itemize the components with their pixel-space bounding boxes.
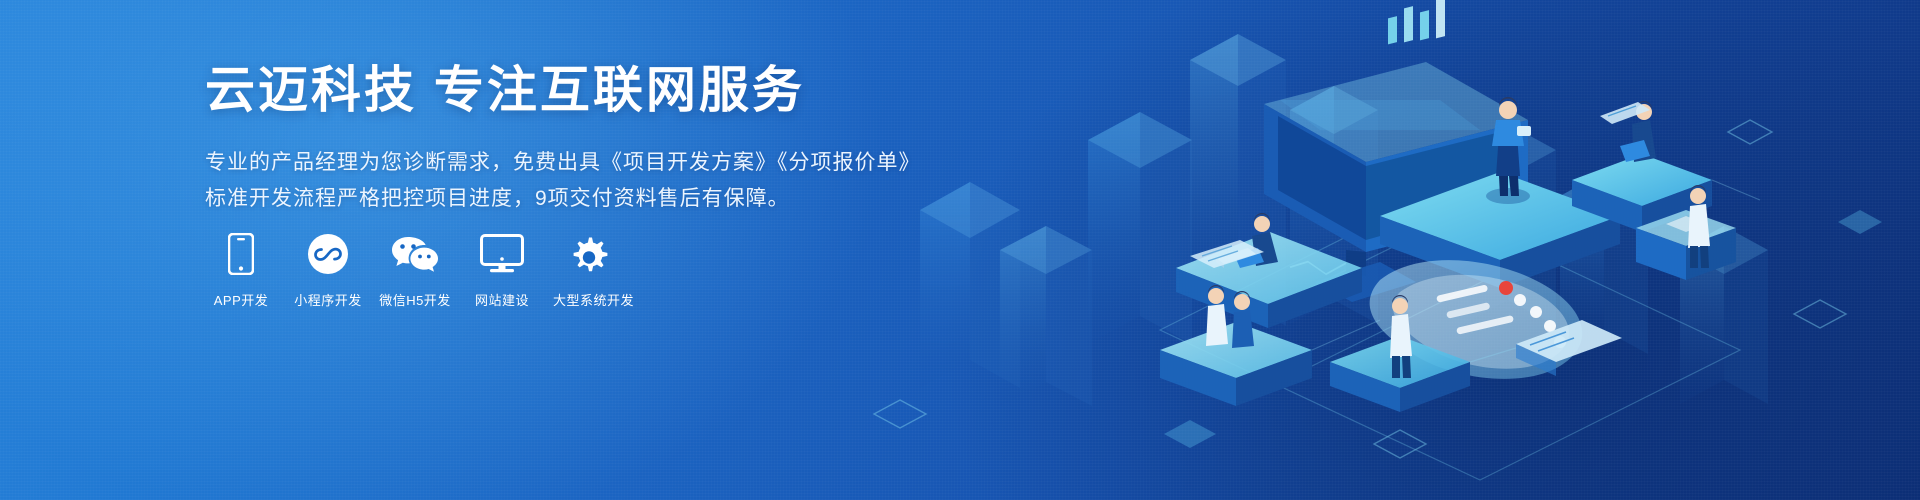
gear-icon — [553, 232, 625, 276]
person-seated-left — [1216, 213, 1278, 268]
center-platform — [1380, 172, 1620, 288]
person-pair-bottom-left — [1206, 285, 1254, 348]
data-ribbon — [1370, 260, 1583, 379]
service-item-large-system[interactable]: 大型系统开发 — [553, 232, 625, 309]
service-label: 网站建设 — [466, 290, 538, 309]
screen-line-chart — [1290, 249, 1346, 281]
subtitle-line-2: 标准开发流程严格把控项目进度，9项交付资料售后有保障。 — [205, 181, 921, 218]
bottom-right-platform — [1330, 336, 1470, 412]
dashboard-screen — [1264, 0, 1528, 302]
bottom-left-platform — [1160, 322, 1312, 406]
person-standing-right-mid — [1688, 185, 1710, 268]
skyline-buildings — [920, 34, 1768, 406]
service-label: APP开发 — [205, 290, 277, 309]
ribbon-dots — [1514, 294, 1566, 348]
service-item-mini-program[interactable]: 小程序开发 — [292, 232, 364, 309]
service-label: 小程序开发 — [292, 290, 364, 309]
decorative-diamonds — [874, 120, 1846, 458]
subtitle-block: 专业的产品经理为您诊断需求，免费出具《项目开发方案》《分项报价单》 标准开发流程… — [205, 145, 921, 219]
service-list: APP开发 小程序开发 微信 — [205, 232, 625, 309]
decorative-diamonds-filled — [1164, 210, 1882, 448]
service-item-wechat-h5[interactable]: 微信H5开发 — [379, 232, 451, 309]
subtitle-line-1: 专业的产品经理为您诊断需求，免费出具《项目开发方案》《分项报价单》 — [205, 145, 921, 182]
left-document-sheet — [1190, 240, 1264, 268]
screen-bar-chart — [1388, 0, 1445, 44]
floor-grid — [1160, 200, 1740, 480]
floating-ui-card — [1516, 320, 1622, 376]
ribbon-pill-rows — [1436, 284, 1514, 335]
banner-copy: 云迈科技 专注互联网服务 专业的产品经理为您诊断需求，免费出具《项目开发方案》《… — [205, 62, 921, 218]
service-item-app[interactable]: APP开发 — [205, 232, 277, 309]
person-standing-bottom-right — [1390, 295, 1412, 378]
ribbon-accent-dot — [1499, 281, 1513, 295]
tablet-floating — [1600, 102, 1650, 124]
wechat-icon — [379, 232, 451, 276]
hero-banner: 云迈科技 专注互联网服务 专业的产品经理为您诊断需求，免费出具《项目开发方案》《… — [0, 0, 1920, 500]
person-standing-center — [1486, 97, 1531, 204]
isometric-illustration — [860, 0, 1920, 500]
monitor-icon — [466, 232, 538, 276]
mini-program-icon — [292, 232, 364, 276]
right-cube-box — [1636, 210, 1736, 280]
page-title: 云迈科技 专注互联网服务 — [205, 62, 921, 120]
service-item-website[interactable]: 网站建设 — [466, 232, 538, 309]
right-upper-platform — [1572, 154, 1712, 232]
mobile-phone-icon — [205, 232, 277, 276]
left-platform — [1176, 232, 1362, 328]
background-glow-bottom-right — [920, 0, 1920, 500]
service-label: 大型系统开发 — [553, 290, 625, 309]
connector-lines — [1312, 180, 1760, 362]
service-label: 微信H5开发 — [379, 290, 451, 309]
person-seated-right-upper — [1620, 101, 1656, 162]
